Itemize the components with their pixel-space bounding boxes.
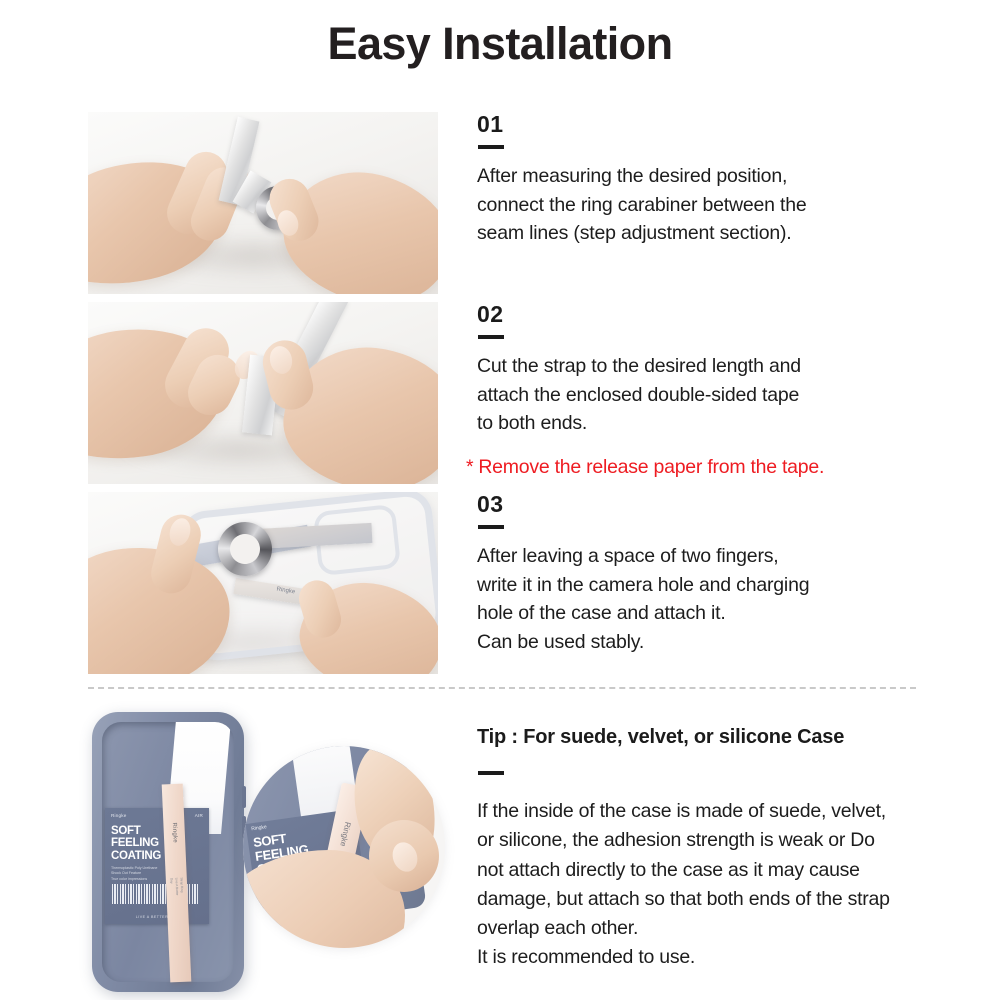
tip-photo-case: Ringke AIR SOFT FEELING COATING Thermopl…	[92, 712, 244, 992]
step-photo-02	[88, 302, 438, 484]
step-number-02: 02	[477, 302, 947, 326]
step-body-01: After measuring the desired position, co…	[477, 162, 947, 248]
label-footer: LIVE A BETTER DAY	[105, 915, 209, 919]
step-text-03: 03 After leaving a space of two fingers,…	[477, 492, 947, 657]
step-photo-03: Ringke	[88, 492, 438, 674]
tip-photo-closeup: Ringke AIR SOFT FEELING COATING Thermopl…	[243, 746, 445, 948]
strap-brand-text: Ringke	[338, 821, 352, 848]
step-rule-01	[478, 145, 504, 149]
label-brand: Ringke	[111, 813, 127, 818]
label-title-line-1: SOFT	[111, 825, 203, 837]
step-02-warning-note: *Remove the release paper from the tape.	[466, 454, 824, 481]
step-body-02: Cut the strap to the desired length and …	[477, 352, 947, 438]
tip-body: If the inside of the case is made of sue…	[477, 797, 957, 973]
label-title-line-3: COATING	[111, 850, 203, 862]
product-label-card: Ringke AIR SOFT FEELING COATING Thermopl…	[105, 808, 209, 924]
label-header: Ringke AIR	[105, 808, 209, 818]
strap-brand-text: Ringke	[276, 587, 295, 596]
label-title-line-2: FEELING	[111, 837, 203, 849]
tip-heading: Tip : For suede, velvet, or silicone Cas…	[477, 726, 957, 749]
label-title: SOFT FEELING COATING	[105, 818, 209, 862]
step-number-01: 01	[477, 112, 947, 136]
step-number-03: 03	[477, 492, 947, 516]
page-title: Easy Installation	[0, 18, 1000, 70]
step-text-02: 02 Cut the strap to the desired length a…	[477, 302, 947, 438]
step-body-03: After leaving a space of two fingers, wr…	[477, 542, 947, 657]
step-text-01: 01 After measuring the desired position,…	[477, 112, 947, 248]
step-rule-02	[478, 335, 504, 339]
strap-brand-text: Ringke	[171, 822, 178, 839]
step-photo-01	[88, 112, 438, 294]
asterisk-icon: *	[466, 456, 473, 478]
label-model: AIR	[195, 813, 203, 818]
label-small-print: Thermoplastic Poly Urethane Shock Out Fe…	[105, 862, 209, 883]
phone-case-body: Ringke AIR SOFT FEELING COATING Thermopl…	[92, 712, 244, 992]
step-02-warning-text: Remove the release paper from the tape.	[478, 456, 824, 478]
step-rule-03	[478, 525, 504, 529]
tip-rule	[478, 771, 504, 775]
tip-text-block: Tip : For suede, velvet, or silicone Cas…	[477, 726, 957, 973]
section-divider	[88, 687, 916, 689]
strap-sub-text: Strap Ring Live A Better Day	[169, 877, 184, 897]
